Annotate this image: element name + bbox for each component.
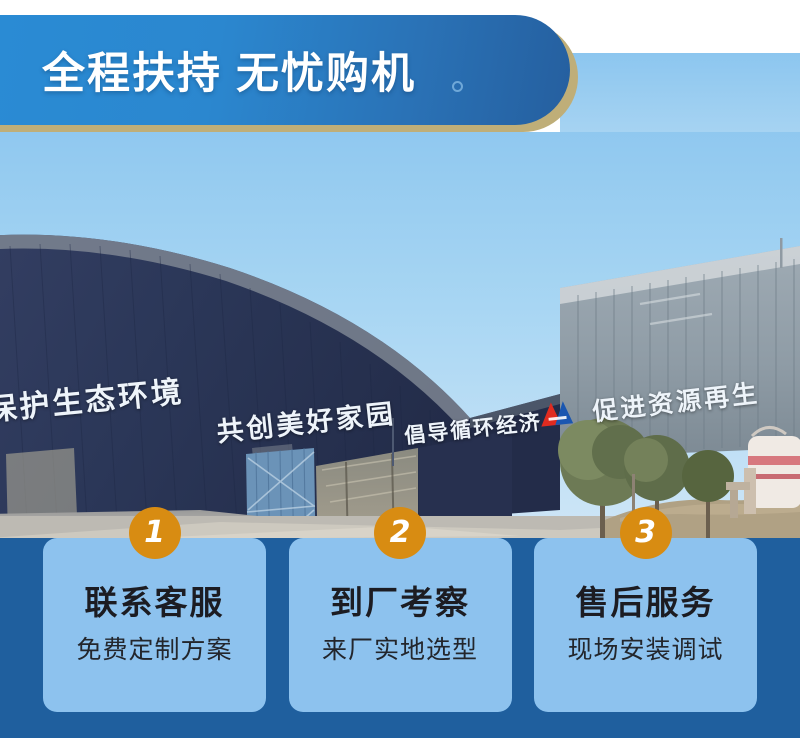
step-title-1: 联系客服	[85, 585, 225, 621]
promo-page: 全程扶持 无忧购机	[0, 0, 800, 738]
step-card-after-sales-service[interactable]: 3 售后服务 现场安装调试	[534, 538, 757, 712]
step-number-1: 1	[144, 518, 165, 548]
page-title: 全程扶持 无忧购机	[42, 39, 416, 101]
step-subtitle-3: 现场安装调试	[567, 637, 723, 665]
factory-exterior-photo: 保护生态环境 共创美好家园 倡导循环经济 促进资源再生	[0, 118, 800, 538]
step-subtitle-2: 来厂实地选型	[322, 637, 478, 665]
steps-row: 1 联系客服 免费定制方案 2 到厂考察 来厂实地选型 3 售后服务 现场安装调…	[0, 538, 800, 738]
header-banner-zone: 全程扶持 无忧购机	[0, 0, 800, 132]
step-card-contact-service[interactable]: 1 联系客服 免费定制方案	[43, 538, 266, 712]
ring-dot-icon	[452, 81, 463, 92]
banner-pill: 全程扶持 无忧购机	[0, 15, 570, 125]
step-badge-3: 3	[620, 507, 672, 559]
step-number-3: 3	[635, 518, 656, 548]
step-title-2: 到厂考察	[330, 585, 470, 621]
company-logo-icon	[537, 397, 576, 429]
factory-photo-illustration	[0, 118, 800, 538]
step-title-3: 售后服务	[576, 585, 716, 621]
steps-section: 1 联系客服 免费定制方案 2 到厂考察 来厂实地选型 3 售后服务 现场安装调…	[0, 538, 800, 738]
step-badge-2: 2	[374, 507, 426, 559]
header-sky-strip	[560, 53, 800, 132]
step-card-factory-visit[interactable]: 2 到厂考察 来厂实地选型	[289, 538, 512, 712]
step-number-2: 2	[390, 518, 411, 548]
step-badge-1: 1	[129, 507, 181, 559]
step-subtitle-1: 免费定制方案	[76, 637, 232, 665]
